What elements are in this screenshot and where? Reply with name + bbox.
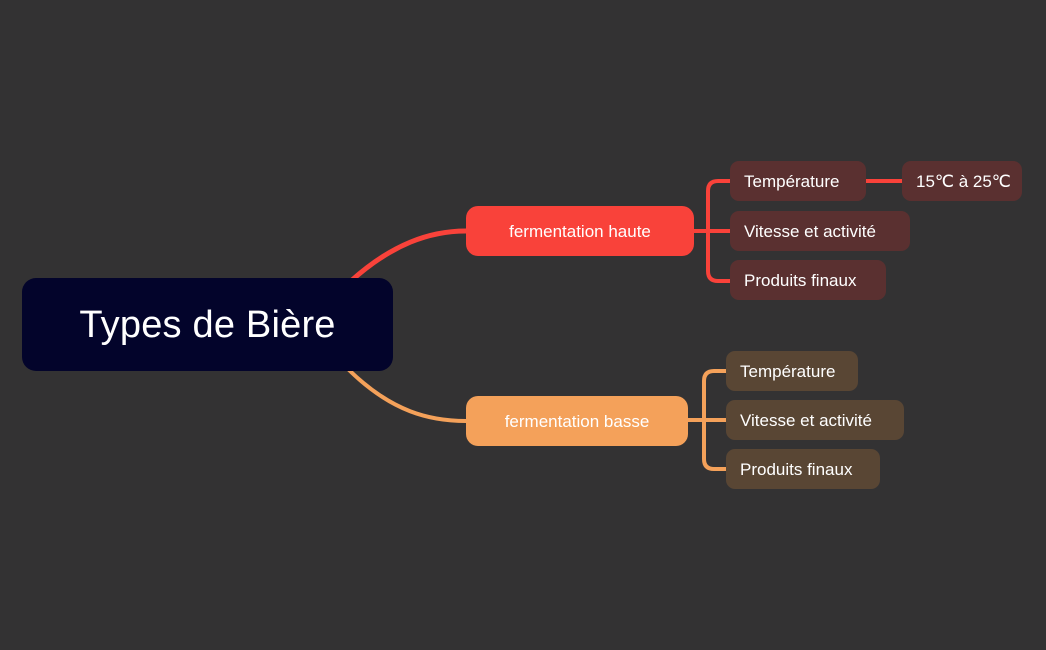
connector-basse-stem-top — [704, 371, 726, 469]
branch-node-fermentation-basse[interactable]: fermentation basse — [466, 396, 688, 446]
connector-root-to-haute — [351, 231, 466, 281]
leaf-node-haute-produits[interactable]: Produits finaux — [730, 260, 886, 300]
connector-root-to-basse — [349, 370, 466, 421]
connector-haute-stem-top — [708, 181, 730, 281]
leaf-node-haute-vitesse[interactable]: Vitesse et activité — [730, 211, 910, 251]
branch-node-fermentation-haute[interactable]: fermentation haute — [466, 206, 694, 256]
leaf-node-haute-temperature[interactable]: Température — [730, 161, 866, 201]
leaf-node-basse-vitesse[interactable]: Vitesse et activité — [726, 400, 904, 440]
root-node[interactable]: Types de Bière — [22, 278, 393, 371]
leaf-node-basse-temperature[interactable]: Température — [726, 351, 858, 391]
leaf-node-basse-produits[interactable]: Produits finaux — [726, 449, 880, 489]
mindmap-canvas: Types de Bière fermentation haute Tempér… — [0, 0, 1046, 650]
leaf-node-haute-temperature-value[interactable]: 15℃ à 25℃ — [902, 161, 1022, 201]
